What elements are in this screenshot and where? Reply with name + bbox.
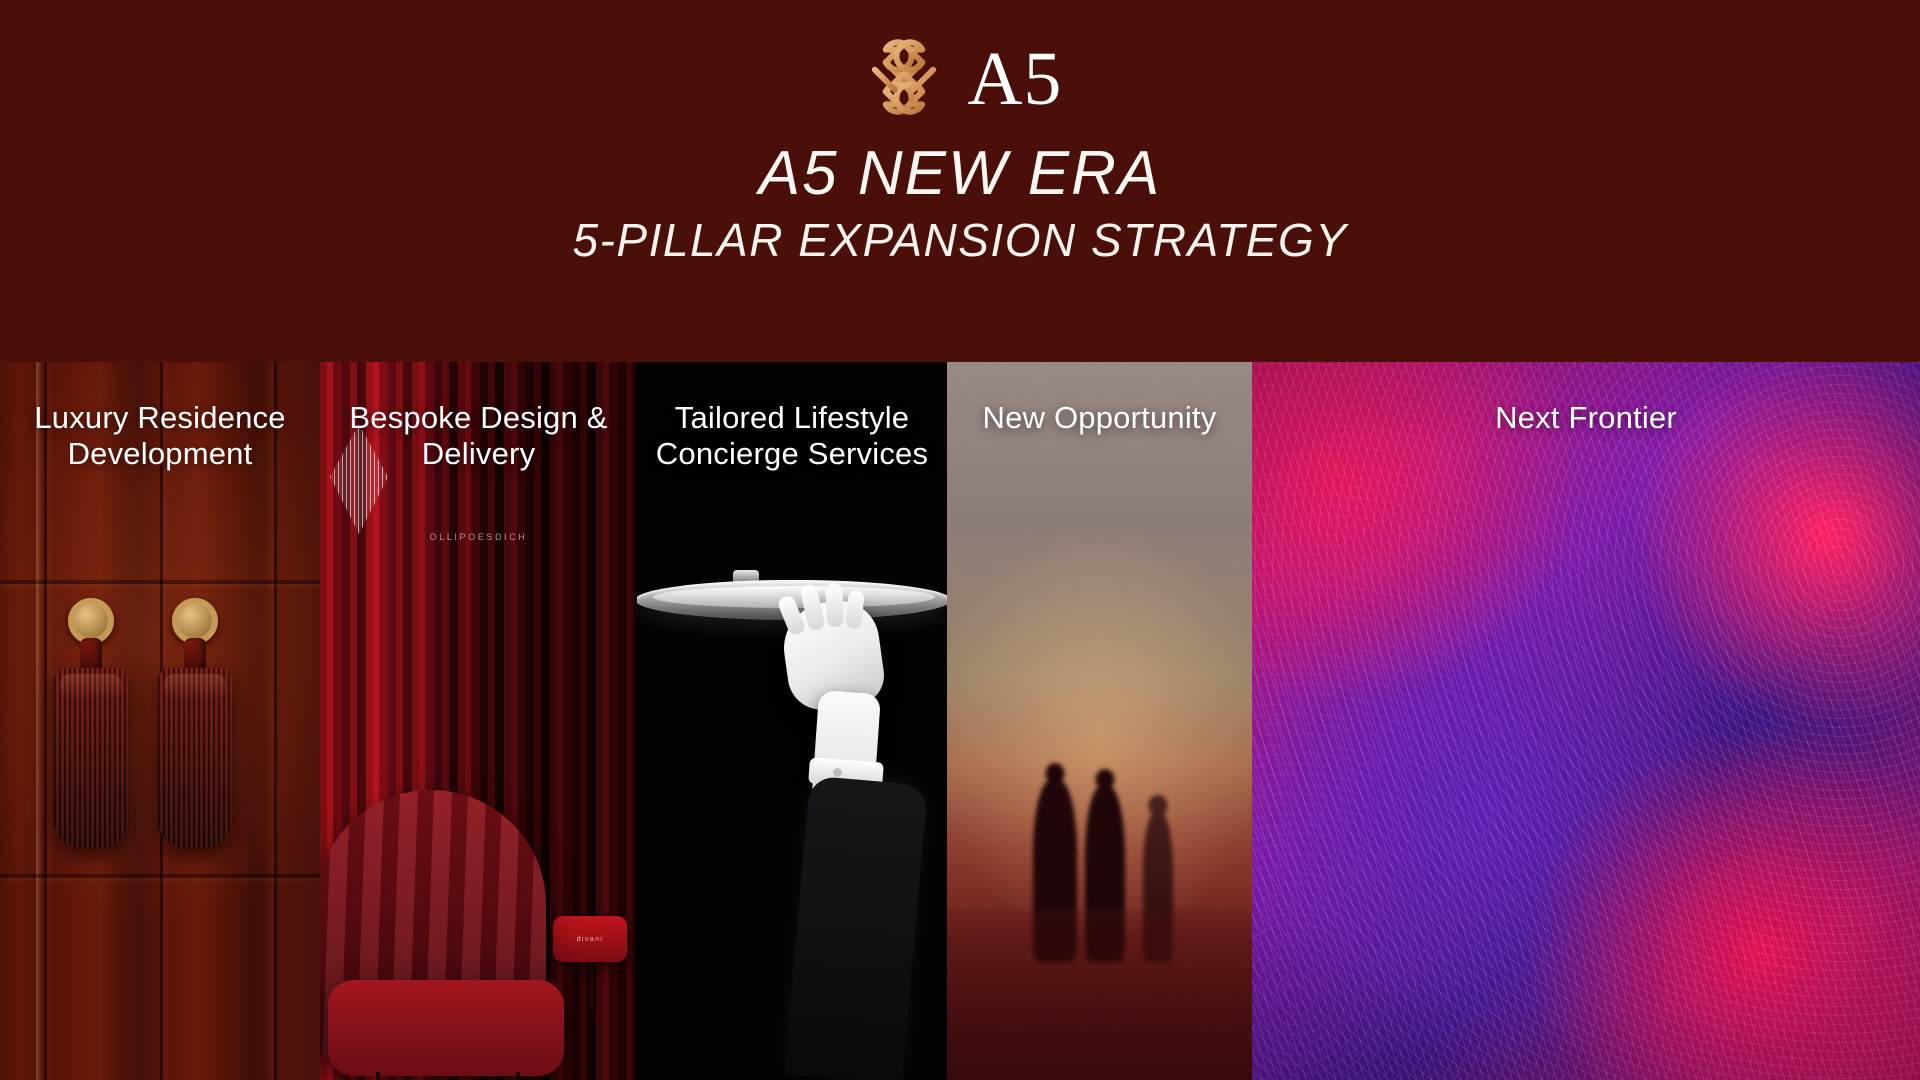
side-table-label: divani	[553, 916, 627, 962]
pillar-card-tailored-lifestyle-concierge-services[interactable]: Tailored Lifestyle Concierge Services	[637, 362, 947, 1080]
pillar-2-label: Bespoke Design & Delivery	[320, 362, 637, 473]
pillar-4-label: New Opportunity	[947, 362, 1252, 436]
pillar-card-new-opportunity[interactable]: New Opportunity	[947, 362, 1252, 1080]
deck-title: A5 NEW ERA	[0, 142, 1920, 206]
brand-lockup: A5	[0, 0, 1920, 116]
pillar-2-brand-stamp: OLLIPOESDICH	[320, 532, 637, 542]
brand-wordmark: A5	[968, 41, 1063, 117]
pillar-5-label: Next Frontier	[1252, 362, 1920, 436]
a5-interlocking-knot-logo-icon	[858, 35, 950, 119]
pillar-5-artwork	[1252, 362, 1920, 1080]
pillar-strip: Luxury Residence Development OLLIPOESDIC…	[0, 362, 1920, 1080]
side-table: divani	[553, 916, 627, 962]
pillar-1-label: Luxury Residence Development	[0, 362, 320, 473]
pillar-3-label: Tailored Lifestyle Concierge Services	[637, 362, 947, 473]
cufflink-icon	[833, 768, 842, 777]
slide-root: A5 A5 NEW ERA 5-PILLAR EXPANSION STRATEG…	[0, 0, 1920, 1080]
pillar-card-luxury-residence-development[interactable]: Luxury Residence Development	[0, 362, 320, 1080]
pillar-card-next-frontier[interactable]: Next Frontier	[1252, 362, 1920, 1080]
pillar-card-bespoke-design-delivery[interactable]: OLLIPOESDICH divani Bespoke Design & Del…	[320, 362, 637, 1080]
slide-header: A5 A5 NEW ERA 5-PILLAR EXPANSION STRATEG…	[0, 0, 1920, 362]
deck-subtitle: 5-PILLAR EXPANSION STRATEGY	[0, 216, 1920, 265]
pillar-4-artwork	[947, 362, 1252, 1080]
